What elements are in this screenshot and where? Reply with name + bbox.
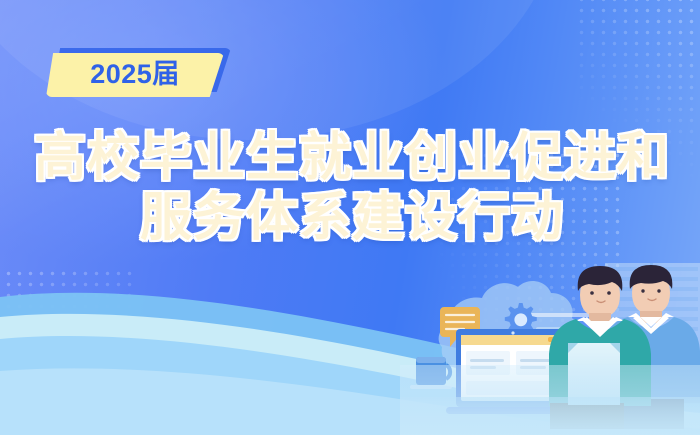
year-badge: 2025届 — [46, 48, 236, 98]
document-sheet — [568, 343, 620, 405]
coffee-mug-icon — [410, 357, 452, 389]
promo-banner: 2025届 高校毕业生就业创业促进和 服务体系建设行动 — [0, 0, 700, 435]
headline-block: 高校毕业生就业创业促进和 服务体系建设行动 — [0, 128, 700, 248]
floor-reflection — [400, 397, 700, 435]
year-badge-plate: 2025届 — [46, 53, 224, 97]
headline-line-1: 高校毕业生就业创业促进和 — [0, 128, 700, 188]
illustration-scene — [400, 255, 700, 435]
headline-line-2: 服务体系建设行动 — [0, 188, 700, 248]
year-badge-label: 2025届 — [90, 61, 180, 90]
